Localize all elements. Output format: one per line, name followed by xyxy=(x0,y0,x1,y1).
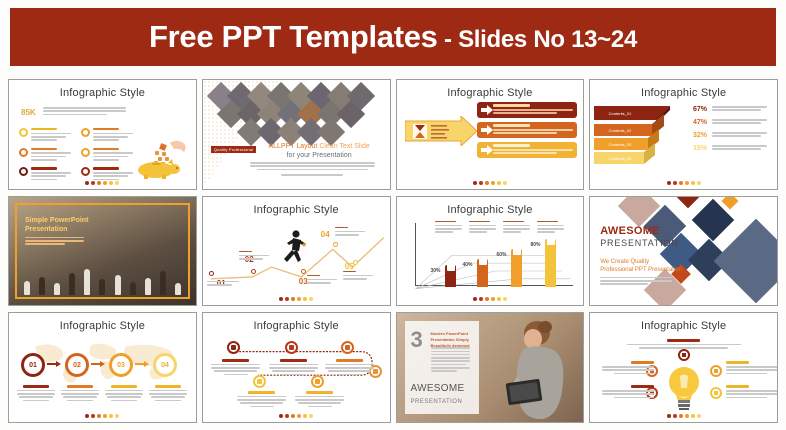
item-caption xyxy=(596,385,654,400)
list-item[interactable]: 67% xyxy=(693,106,773,113)
slide-2-body-text xyxy=(243,162,382,177)
slide-12-title: Infographic Style xyxy=(590,320,777,332)
slide-thumb-3[interactable]: Infographic Style xyxy=(396,79,585,190)
bar-caption xyxy=(469,221,499,235)
step-caption xyxy=(343,271,377,282)
list-item[interactable]: 47% xyxy=(693,119,773,126)
timeline-node[interactable] xyxy=(253,375,266,388)
list-item[interactable]: 32% xyxy=(693,132,773,139)
item-caption xyxy=(596,361,654,376)
alert-icon xyxy=(682,353,686,357)
slide-thumb-7[interactable]: Infographic Style 30% 40% xyxy=(396,196,585,307)
bar-value: 60% xyxy=(497,252,507,258)
check-icon xyxy=(714,391,718,395)
briefcase-icon xyxy=(231,345,236,350)
arrow-right-icon xyxy=(91,361,105,367)
text-card: 3 Modern PowerPoint Presentation Simply … xyxy=(405,321,479,414)
pagination-dots[interactable] xyxy=(397,181,584,185)
item-caption xyxy=(726,385,778,400)
slide-4-title: Infographic Style xyxy=(590,87,777,99)
slide-1-lead-text xyxy=(43,107,135,121)
step-node xyxy=(209,271,214,276)
step-caption xyxy=(147,385,189,403)
slide-11-award-2: PRESENTATION xyxy=(411,399,463,405)
arrow-right-icon xyxy=(481,125,493,135)
slide-grid: Infographic Style 85K xyxy=(8,79,778,423)
bar-caption xyxy=(435,221,465,235)
bar-icon xyxy=(547,237,555,245)
circle-icon xyxy=(81,167,90,176)
bar-icon xyxy=(479,257,487,265)
circle-icon xyxy=(19,148,28,157)
timeline-node[interactable] xyxy=(311,375,324,388)
slide-11-body-text xyxy=(431,347,475,373)
slide-3-bar-list xyxy=(477,102,577,162)
step-number: 05 xyxy=(345,262,354,271)
quality-badge: Quality Professional xyxy=(211,146,257,153)
step-node xyxy=(251,269,256,274)
step-caption xyxy=(207,281,243,288)
arrow-right-icon xyxy=(481,145,493,155)
step-number: 02 xyxy=(73,362,81,369)
step-caption xyxy=(59,385,101,403)
pagination-dots[interactable] xyxy=(9,414,196,418)
slide-thumb-1[interactable]: Infographic Style 85K xyxy=(8,79,197,190)
step-number: 04 xyxy=(321,230,330,239)
slide-11-award-1: AWESOME xyxy=(411,383,465,394)
step-caption xyxy=(239,251,273,262)
slide-2-headline-2: for your Presentation xyxy=(255,152,384,159)
bulb-icon xyxy=(257,379,262,384)
list-item[interactable] xyxy=(477,122,577,138)
pagination-dots[interactable] xyxy=(9,181,196,185)
circle-icon xyxy=(19,128,28,137)
slide-1-item-list xyxy=(19,128,137,182)
stat-value: 15% xyxy=(693,145,709,152)
list-item[interactable] xyxy=(477,102,577,118)
headline-light: Clean Text Slide xyxy=(319,143,369,150)
pagination-dots[interactable] xyxy=(590,181,777,185)
slide-thumb-11[interactable]: 3 Modern PowerPoint Presentation Simply … xyxy=(396,312,585,423)
timeline-caption xyxy=(235,391,289,409)
arrow-right-icon xyxy=(47,361,61,367)
target-icon xyxy=(315,379,320,384)
pagination-dots[interactable] xyxy=(203,414,390,418)
page-title-sub: Slides No 13~24 xyxy=(458,26,637,53)
bar-caption xyxy=(537,221,567,235)
monitor-icon xyxy=(289,345,294,350)
slide-5-heading-1: Simple PowerPoint xyxy=(25,217,88,224)
slide-5-body-text xyxy=(25,237,91,247)
slide-11-number: 3 xyxy=(411,329,423,351)
list-item[interactable] xyxy=(477,142,577,158)
page-header-banner: Free PPT Templates - Slides No 13~24 xyxy=(10,8,776,66)
bar xyxy=(511,249,522,287)
circle-icon xyxy=(19,167,28,176)
list-item[interactable]: 15% xyxy=(693,145,773,152)
slide-thumb-10[interactable]: Infographic Style xyxy=(202,312,391,423)
slide-8-sub-2: Professional PPT Presentation xyxy=(600,267,682,273)
list-item-label xyxy=(31,148,57,150)
step-caption xyxy=(15,385,57,403)
stat-value: 47% xyxy=(693,119,709,126)
timeline-caption xyxy=(267,359,321,377)
slide-2-headline-1: ALLPPT Layout Clean Text Slide xyxy=(255,143,384,150)
svg-text:Contents_04: Contents_04 xyxy=(609,156,632,161)
layered-pyramid-icon: Contents_01Contents_02 Contents_03Conten… xyxy=(594,104,690,166)
slide-thumb-8[interactable]: AWESOME PRESENTATION We Create Quality P… xyxy=(589,196,778,307)
svg-text:Contents_01: Contents_01 xyxy=(609,111,632,116)
svg-text:Contents_02: Contents_02 xyxy=(609,128,632,133)
list-item[interactable] xyxy=(19,148,75,163)
slide-9-title: Infographic Style xyxy=(9,320,196,332)
slide-thumb-12[interactable]: Infographic Style xyxy=(589,312,778,423)
bar-icon xyxy=(513,247,521,255)
page-title-main: Free PPT Templates xyxy=(149,19,438,54)
timeline-caption xyxy=(209,359,263,377)
slide-5-heading-2: Presentation xyxy=(25,226,67,233)
list-item[interactable] xyxy=(19,128,75,143)
item-caption xyxy=(726,361,778,376)
running-businessman-icon xyxy=(281,229,307,267)
circle-icon xyxy=(81,128,90,137)
slide-1-title: Infographic Style xyxy=(9,87,196,99)
stat-value: 67% xyxy=(693,106,709,113)
bar-value: 40% xyxy=(463,262,473,268)
bar-value: 30% xyxy=(431,268,441,274)
pagination-dots[interactable] xyxy=(397,297,584,301)
timeline-caption xyxy=(293,391,347,409)
slide-1-stat: 85K xyxy=(21,108,36,117)
bar-caption xyxy=(503,221,533,235)
lightbulb-icon xyxy=(667,362,701,410)
step-node xyxy=(333,242,338,247)
list-item-label xyxy=(93,167,119,169)
slide-thumb-9[interactable]: Infographic Style 01 02 03 04 xyxy=(8,312,197,423)
woman-illustration xyxy=(489,315,581,419)
step-node xyxy=(301,269,306,274)
bar xyxy=(545,239,556,287)
bar-value: 80% xyxy=(531,242,541,248)
slide-8-heading-1: AWESOME xyxy=(600,225,660,237)
item-circle[interactable] xyxy=(710,365,722,377)
slide-4-stat-list: 67% 47% 32% 15% xyxy=(693,106,773,158)
chart-icon xyxy=(714,369,718,373)
hourglass-arrow-icon xyxy=(405,116,477,146)
chart-icon xyxy=(345,345,350,350)
step-caption xyxy=(103,385,145,403)
slide-8-sub-1: We Create Quality xyxy=(600,259,649,265)
diamond-mosaic xyxy=(207,84,377,142)
timeline-node[interactable] xyxy=(285,341,298,354)
pagination-dots[interactable] xyxy=(590,414,777,418)
timeline-node[interactable] xyxy=(341,341,354,354)
svg-text:Contents_03: Contents_03 xyxy=(609,142,632,147)
list-item[interactable] xyxy=(81,148,137,163)
list-item-label xyxy=(93,148,119,150)
list-item[interactable] xyxy=(81,128,137,143)
slide-thumb-5[interactable]: Simple PowerPoint Presentation xyxy=(8,196,197,307)
page-title-separator: - xyxy=(438,26,458,53)
bar-icon xyxy=(447,263,455,271)
step-number: 03 xyxy=(117,362,125,369)
list-item-label xyxy=(31,128,57,130)
page-title: Free PPT Templates - Slides No 13~24 xyxy=(149,19,637,55)
slide-thumb-6[interactable]: Infographic Style 01 xyxy=(202,196,391,307)
slide-3-title: Infographic Style xyxy=(397,87,584,99)
item-circle[interactable] xyxy=(678,349,690,361)
arrow-right-icon xyxy=(135,361,149,367)
timeline-node[interactable] xyxy=(227,341,240,354)
arrow-right-icon xyxy=(481,105,493,115)
slide-8-body-text xyxy=(600,277,680,287)
item-circle[interactable] xyxy=(710,387,722,399)
pagination-dots[interactable] xyxy=(203,297,390,301)
stat-value: 32% xyxy=(693,132,709,139)
step-number: 01 xyxy=(29,362,37,369)
template-gallery-page: Free PPT Templates - Slides No 13~24 Inf… xyxy=(0,0,786,430)
slide-8-heading-2: PRESENTATION xyxy=(600,238,678,248)
step-number: 04 xyxy=(161,362,169,369)
timeline-caption xyxy=(323,359,377,377)
slide-thumb-4[interactable]: Infographic Style Contents_01Contents_02… xyxy=(589,79,778,190)
step-caption xyxy=(307,275,341,286)
step-caption xyxy=(335,227,369,238)
piggy-bank-icon xyxy=(130,139,188,179)
slide-thumb-2[interactable]: Quality Professional ALLPPT Layout Clean… xyxy=(202,79,391,190)
headline-strong: ALLPPT Layout xyxy=(268,143,317,150)
list-item-label xyxy=(31,167,57,169)
circle-icon xyxy=(81,148,90,157)
list-item-label xyxy=(93,128,119,130)
